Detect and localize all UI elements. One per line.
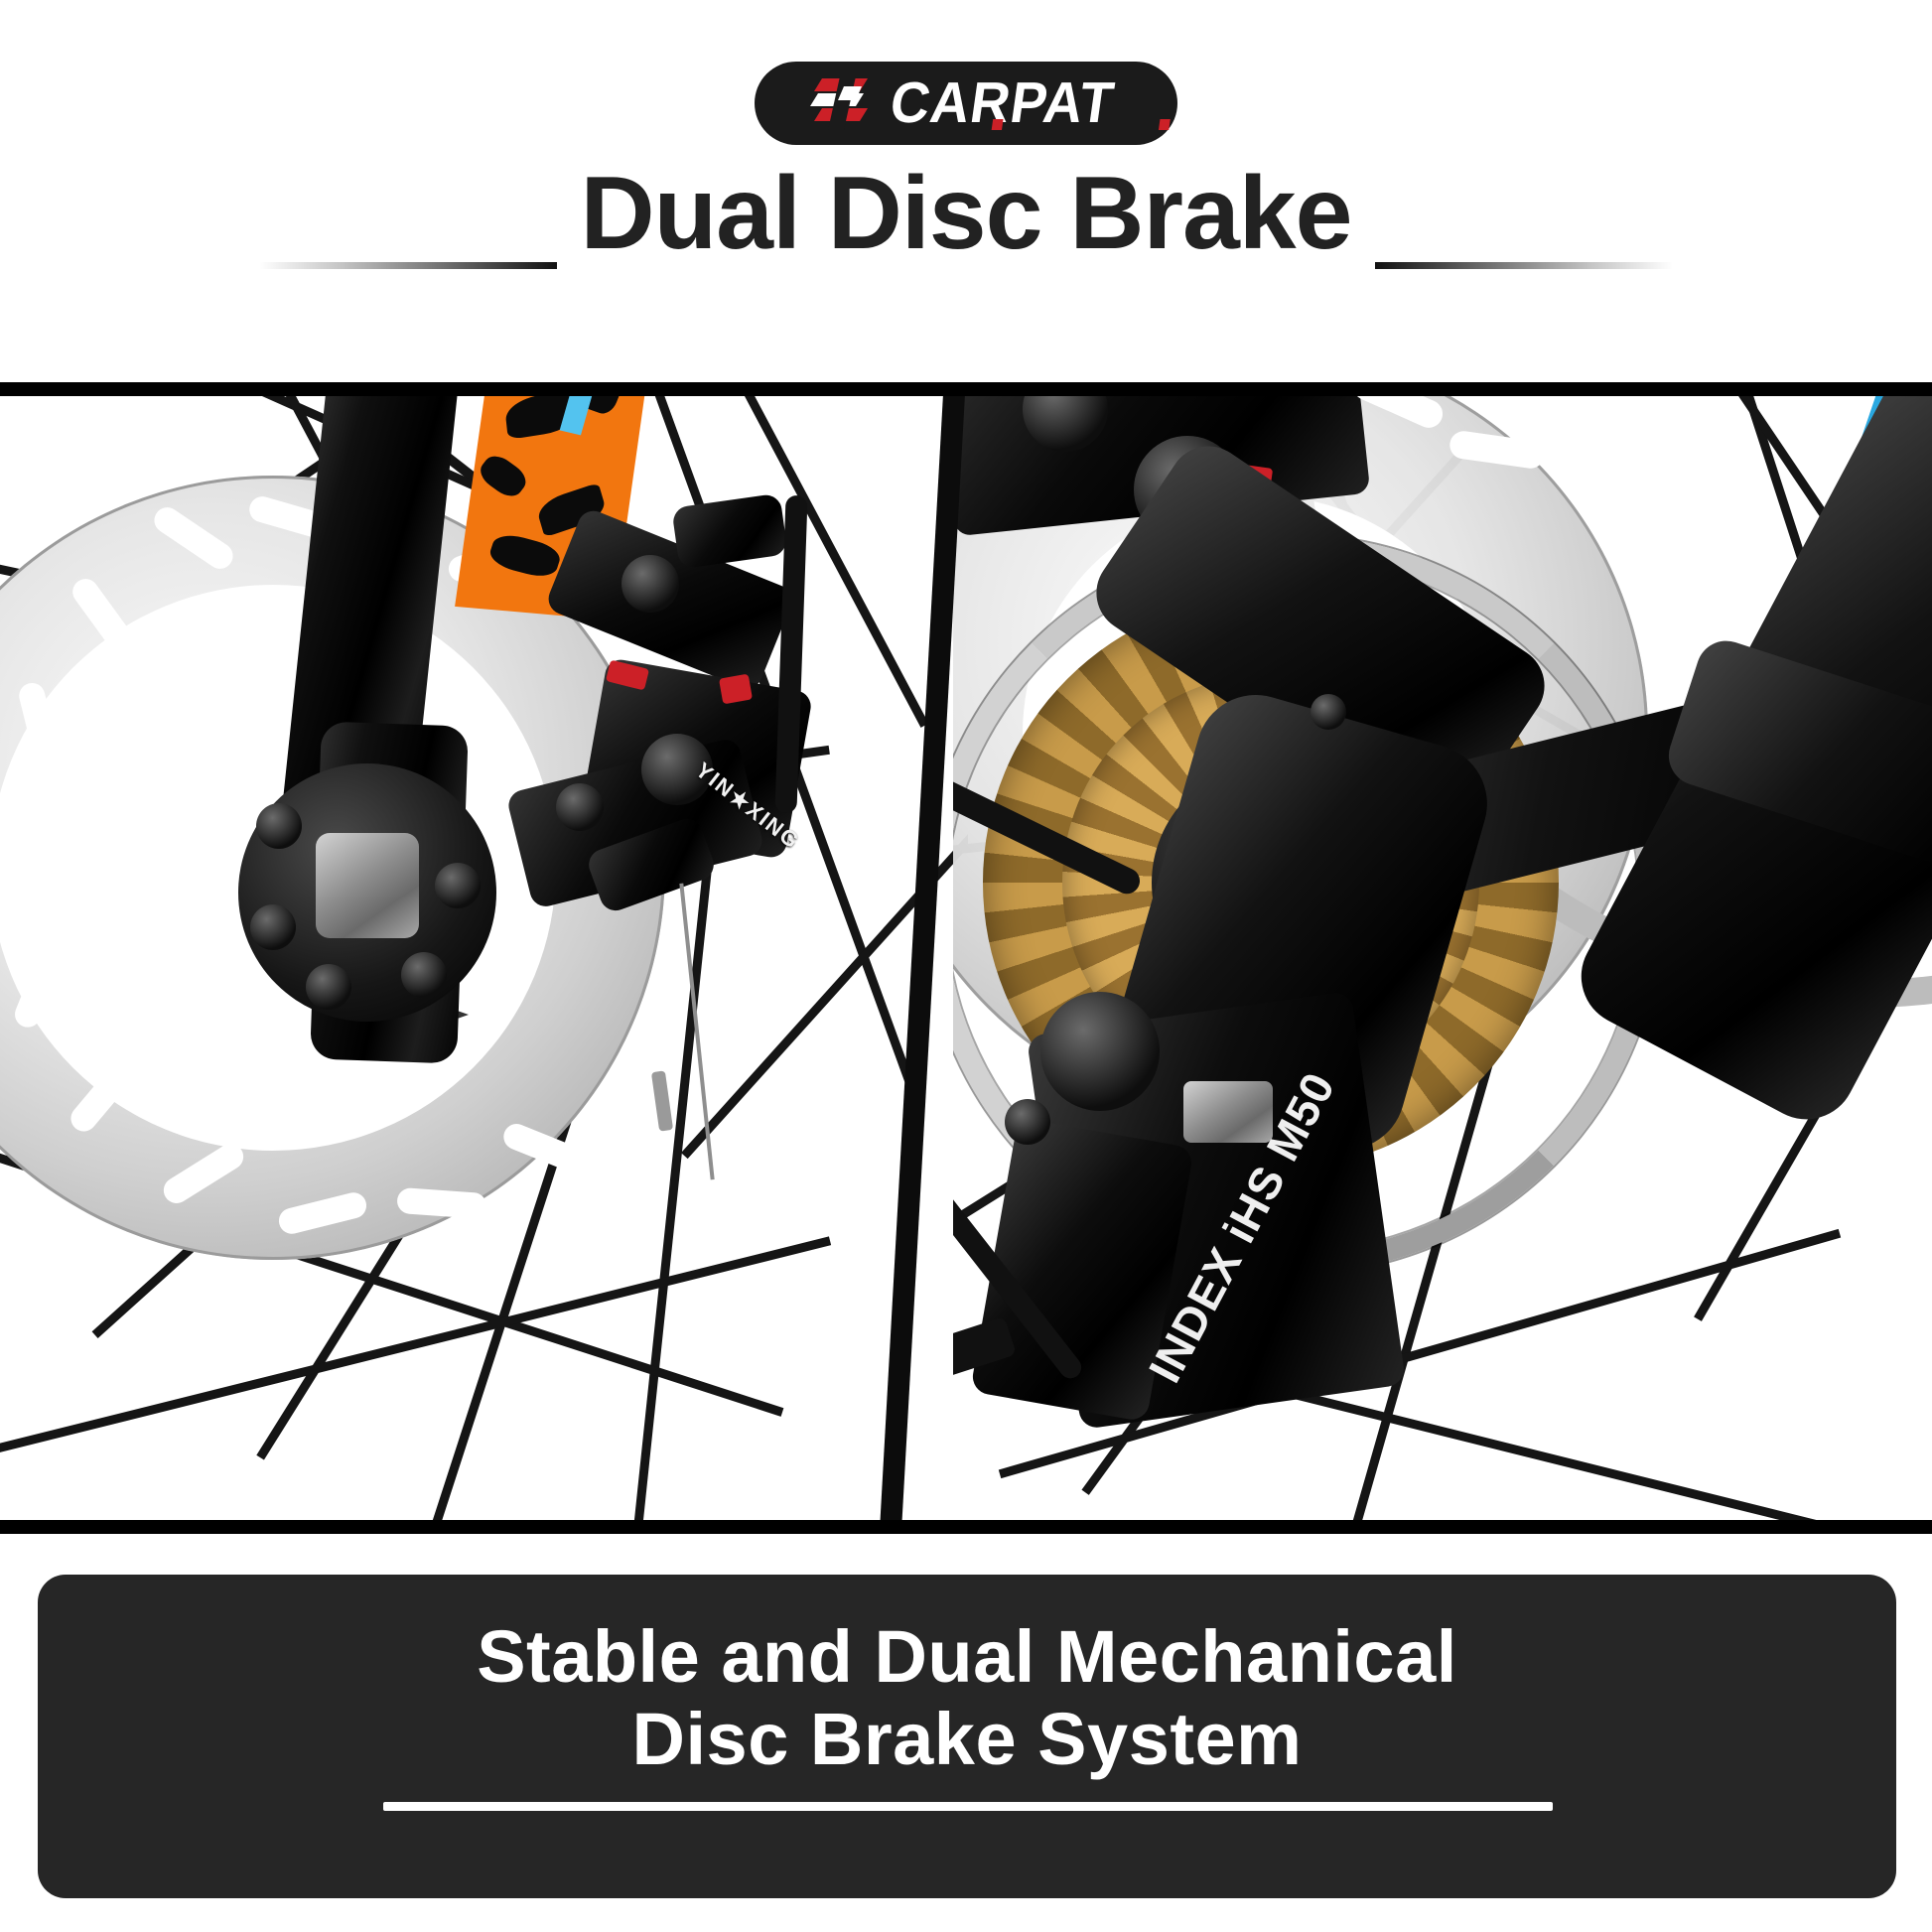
feature-photo: YIN★XING [0,382,1932,1534]
derailleur-pulley-bolt [1040,992,1160,1111]
decal-splat [475,451,531,502]
rotor-bolt [250,904,296,950]
caliper-mount-bolt [556,783,604,831]
caliper-pivot-bolt [621,555,679,613]
caliper-red-accent [719,674,753,705]
derailleur-b-screw [1183,1081,1273,1143]
axle-nut [316,833,419,938]
caption-box: Stable and Dual Mechanical Disc Brake Sy… [38,1575,1896,1898]
logo-pill: CARPAT [755,62,1176,145]
rotor-bolt [256,803,302,849]
derailleur-adjuster-bolt [1005,1099,1050,1145]
rotor-bolt [306,964,351,1010]
carpat-chevron-mark-icon [810,76,872,130]
page-title: Dual Disc Brake [557,157,1376,270]
decal-splat [486,530,564,581]
logo-accent-dot-2 [1159,119,1171,130]
caption-underline [383,1802,1553,1811]
brake-cable-barrel [671,493,788,570]
caption-line-1: Stable and Dual Mechanical [477,1616,1457,1699]
rotor-slot [10,811,39,901]
rotor-bolt [401,952,447,998]
logo-accent-dot-1 [992,119,1004,130]
spoke [0,1236,831,1470]
rotor-bolt [435,863,481,908]
rear-cassette-derailleur-panel: INDEX iHS M50 [953,396,1932,1520]
title-rule-left [259,262,557,269]
dropout-bolt [1311,694,1346,730]
title-rule-right [1375,262,1673,269]
section-title-row: Dual Disc Brake [0,157,1932,270]
brake-cable-end-cap [651,1070,673,1131]
product-feature-card: CARPAT Dual Disc Brake [0,0,1932,1932]
caption-line-2: Disc Brake System [632,1699,1303,1781]
brand-logo: CARPAT [0,62,1932,145]
front-disc-brake-panel: YIN★XING [0,396,968,1520]
logo-wordmark-text: CARPAT [887,70,1119,135]
logo-wordmark: CARPAT [888,74,1119,132]
